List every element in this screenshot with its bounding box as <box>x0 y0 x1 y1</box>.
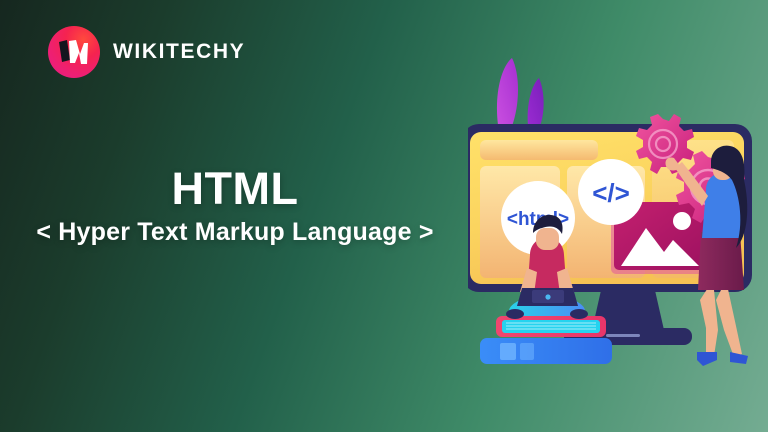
html-course-banner: WIKITECHY HTML < Hyper Text Markup Langu… <box>0 0 768 432</box>
purple-leaf-large <box>497 58 518 126</box>
wikitechy-w-logo-icon <box>48 26 100 78</box>
web-development-monitor-illustration: <html> </> <box>468 0 768 432</box>
code-slash-badge-label: </> <box>592 178 630 208</box>
page-subtitle: < Hyper Text Markup Language > <box>0 218 470 247</box>
brand-name: WIKITECHY <box>113 40 245 64</box>
brand-logo[interactable]: WIKITECHY <box>48 26 245 78</box>
page-title: HTML <box>0 165 470 212</box>
code-slash-badge: </> <box>578 159 644 225</box>
purple-leaf-small <box>528 78 544 126</box>
book-stack <box>480 316 612 364</box>
headline-block: HTML < Hyper Text Markup Language > <box>0 165 470 247</box>
